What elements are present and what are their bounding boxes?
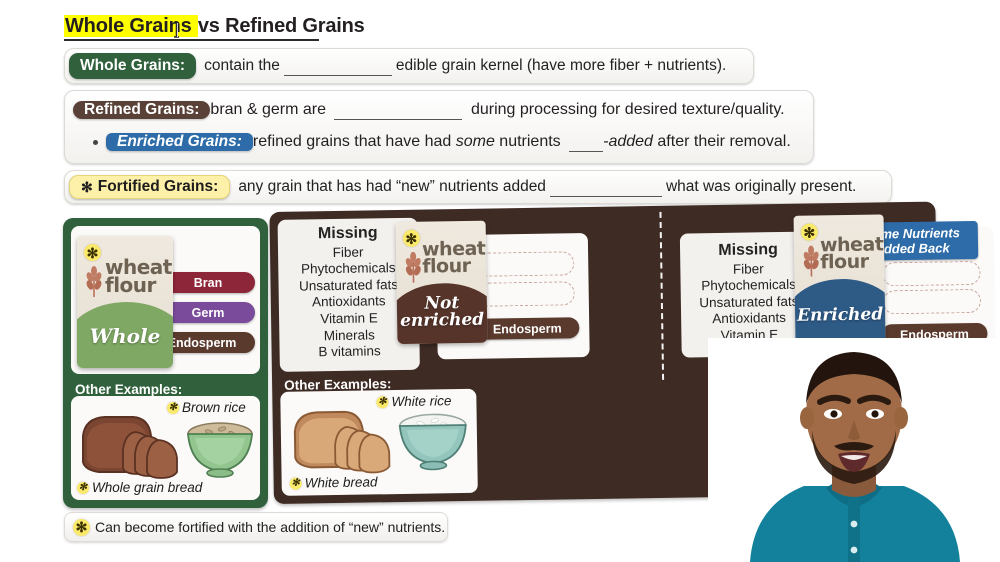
- bag-word-line2: enriched: [400, 310, 484, 331]
- wheat-sprig-icon: [404, 250, 423, 284]
- footnote-text: Can become fortified with the addition o…: [95, 519, 445, 535]
- definition-group-refined: Refined Grains: bran & germ are during p…: [64, 90, 814, 164]
- definition-row-enriched-grains: Enriched Grains: refined grains that hav…: [93, 127, 791, 157]
- missing-item: Minerals: [324, 327, 375, 343]
- whole-pill-bran: Bran: [161, 272, 255, 293]
- missing-item: Phytochemicals: [701, 277, 796, 293]
- fortified-blank[interactable]: [550, 178, 662, 197]
- missing-item: Fiber: [333, 244, 364, 259]
- whole-flour-bag: ✻ wheat flour Whole: [77, 236, 173, 368]
- white-bread-label: ✻ White bread: [290, 474, 378, 490]
- missing-item: Unsaturated fats: [299, 277, 398, 294]
- enriched-blank[interactable]: [569, 133, 603, 152]
- enriched-text-mid: nutrients: [499, 133, 560, 150]
- bag-word-enriched: Enriched: [795, 304, 885, 325]
- page-title-rest: vs Refined Grains: [198, 15, 365, 37]
- enriched-flour-bag: ✻ wheat flour Enriched: [794, 214, 886, 343]
- enriched-suffix: -added: [603, 133, 653, 150]
- refined-blank[interactable]: [334, 101, 462, 120]
- missing-item: Vitamin E: [320, 310, 378, 326]
- brown-rice-label: ✻ Brown rice: [167, 400, 246, 415]
- asterisk-icon: ✻: [84, 244, 101, 261]
- definition-whole-grains-body: contain the edible grain kernel (have mo…: [196, 49, 736, 83]
- tag-fortified-grains: ✻ Fortified Grains:: [69, 175, 230, 199]
- definition-refined-grains-body: bran & germ are during processing for de…: [210, 101, 784, 120]
- refined-text-before: bran & germ are: [210, 101, 326, 118]
- whole-examples-card: ✻ Brown rice ✻ Whole grain bread: [71, 396, 260, 500]
- asterisk-icon: ✻: [801, 223, 818, 240]
- missing-item: Phytochemicals: [301, 260, 396, 276]
- title-underline: [64, 39, 319, 41]
- bag-brand-line2: flour: [820, 251, 869, 274]
- panel-divider: [659, 212, 664, 380]
- page-title-highlight: Whole Grains: [64, 15, 198, 37]
- missing-item: Antioxidants: [312, 294, 386, 310]
- whole-pill-germ: Germ: [161, 302, 255, 323]
- refined-pill-endosperm: Endosperm: [475, 317, 579, 340]
- fortified-text-before: any grain that has had “new” nutrients a…: [238, 178, 546, 196]
- presenter-figure: [708, 338, 1000, 562]
- whole-other-examples-label: Other Examples:: [75, 382, 182, 397]
- asterisk-icon: ✻: [73, 519, 90, 536]
- enriched-slot-bran: [882, 261, 980, 287]
- definition-row-refined-grains: Refined Grains: bran & germ are during p…: [69, 95, 785, 125]
- tag-fortified-label: Fortified Grains:: [98, 178, 219, 196]
- wheat-sprig-icon: [85, 264, 103, 298]
- enriched-slot-germ: [883, 289, 981, 315]
- refined-empty-slot-germ: [477, 281, 575, 307]
- asterisk-icon: ✻: [77, 482, 89, 494]
- banner-line2: Added Back: [874, 240, 949, 256]
- asterisk-icon: ✻: [81, 179, 93, 196]
- whole-text-after: edible grain kernel (have more fiber + n…: [396, 57, 726, 75]
- enriched-text-after: after their removal.: [657, 133, 790, 150]
- whole-blank[interactable]: [284, 57, 392, 76]
- white-rice-bowl-icon: [392, 405, 473, 472]
- enriched-text-before: refined grains that have had: [253, 133, 451, 150]
- asterisk-icon: ✻: [403, 230, 420, 247]
- refined-text-after: during processing for desired texture/qu…: [471, 101, 785, 118]
- missing-item: Unsaturated fats: [699, 294, 798, 311]
- bag-brand-line2: flour: [422, 255, 471, 278]
- white-rice-label: ✻ White rice: [376, 393, 451, 409]
- wheat-sprig-icon: [802, 243, 821, 277]
- presenter-video: [708, 338, 1000, 562]
- tag-whole-grains: Whole Grains:: [69, 53, 196, 79]
- missing-item: Antioxidants: [712, 310, 786, 326]
- bag-word-whole: Whole: [77, 324, 173, 348]
- bag-brand-line2: flour: [105, 273, 156, 297]
- missing-item: B vitamins: [318, 343, 381, 359]
- whole-text-before: contain the: [204, 57, 280, 75]
- definition-row-fortified-grains: ✻ Fortified Grains: any grain that has h…: [64, 170, 892, 204]
- white-bread-icon: [286, 400, 399, 480]
- refined-empty-slot-bran: [476, 251, 574, 277]
- whole-grain-bread-label: ✻ Whole grain bread: [77, 480, 202, 495]
- enriched-italic-word: some: [456, 133, 495, 150]
- whole-grains-panel: Bran Germ Endosperm ✻ wheat flour: [63, 218, 268, 508]
- missing-item: Fiber: [733, 261, 764, 276]
- refined-examples-card: ✻ White rice ✻ White bread: [280, 389, 478, 496]
- definition-row-whole-grains: Whole Grains: contain the edible grain k…: [64, 48, 754, 84]
- bullet-icon: [93, 140, 98, 145]
- whole-grain-bread-icon: [75, 404, 187, 484]
- asterisk-icon: ✻: [376, 396, 388, 408]
- asterisk-icon: ✻: [167, 402, 179, 414]
- asterisk-icon: ✻: [290, 477, 302, 489]
- tag-enriched-grains: Enriched Grains:: [106, 133, 253, 151]
- page-title-text: Whole Grains vs Refined Grains: [64, 13, 484, 39]
- refined-flour-bag: ✻ wheat flour Not enriched: [396, 221, 488, 344]
- slide-canvas: Whole Grains vs Refined Grains Whole Gra…: [0, 0, 1000, 562]
- brown-rice-bowl-icon: [181, 414, 259, 478]
- tag-refined-grains: Refined Grains:: [73, 101, 210, 119]
- page-title: Whole Grains vs Refined Grains: [64, 13, 484, 41]
- footnote-fortified: ✻ Can become fortified with the addition…: [64, 512, 448, 542]
- definition-fortified-body: any grain that has had “new” nutrients a…: [230, 171, 866, 203]
- definition-enriched-grains-body: refined grains that have had some nutrie…: [253, 133, 791, 152]
- fortified-text-after: what was originally present.: [666, 178, 856, 196]
